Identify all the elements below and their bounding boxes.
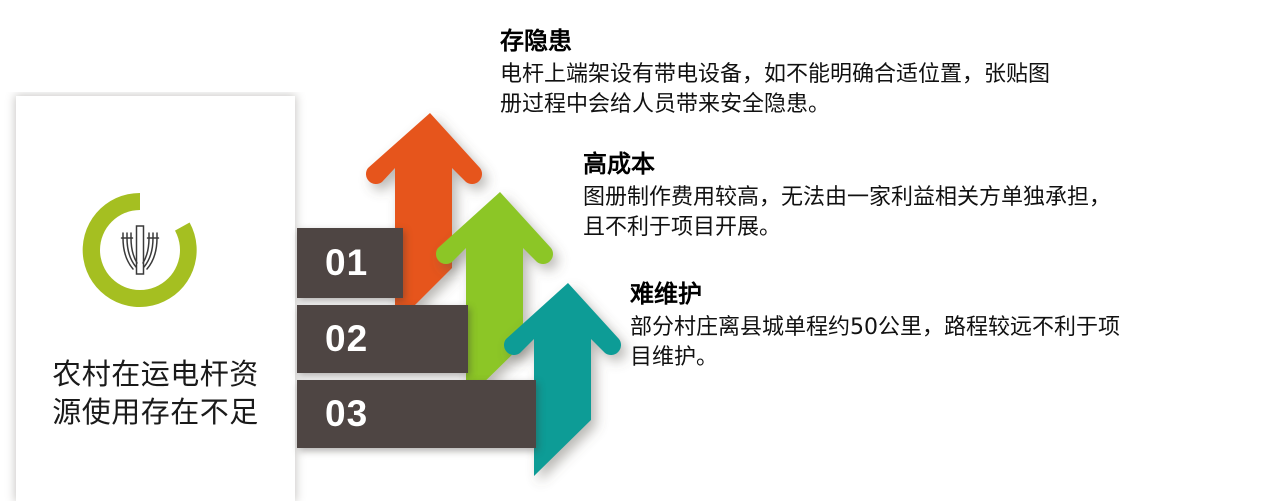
step-bar-03[interactable]: 03 (297, 380, 536, 448)
step-body-01: 电杆上端架设有带电设备，如不能明确合适位置，张贴图册过程中会给人员带来安全隐患。 (500, 60, 1150, 121)
caption-line-1: 农村在运电杆资 (16, 356, 295, 394)
step-bar-02[interactable]: 02 (297, 305, 468, 373)
step-body-03-line-1: 部分村庄离县城单程约50公里，路程较远不利于项 (630, 315, 1120, 340)
step-body-02: 图册制作费用较高，无法由一家利益相关方单独承担，且不利于项目开展。 (583, 183, 1243, 244)
infographic-canvas: 农村在运电杆资 源使用存在不足 01 02 03 存隐患 电杆上端架设有带电设备… (0, 0, 1269, 501)
step-number-01: 01 (325, 244, 368, 281)
step-body-01-line-2: 册过程中会给人员带来安全隐患。 (500, 92, 830, 117)
step-text-block-03: 难维护 部分村庄离县城单程约50公里，路程较远不利于项目维护。 (630, 280, 1269, 374)
step-number-03: 03 (325, 395, 368, 432)
step-body-03: 部分村庄离县城单程约50公里，路程较远不利于项目维护。 (630, 313, 1269, 374)
step-title-01: 存隐患 (500, 27, 1150, 56)
left-card-caption: 农村在运电杆资 源使用存在不足 (16, 356, 295, 431)
step-text-block-02: 高成本 图册制作费用较高，无法由一家利益相关方单独承担，且不利于项目开展。 (583, 150, 1243, 244)
step-body-01-line-1: 电杆上端架设有带电设备，如不能明确合适位置，张贴图 (500, 62, 1050, 87)
step-title-02: 高成本 (583, 150, 1243, 179)
step-title-03: 难维护 (630, 280, 1269, 309)
step-number-02: 02 (325, 320, 368, 357)
caption-line-2: 源使用存在不足 (16, 394, 295, 432)
step-bar-01[interactable]: 01 (297, 228, 403, 298)
donut-chart (66, 176, 214, 324)
step-body-03-line-2: 目维护。 (630, 345, 718, 370)
step-text-block-01: 存隐患 电杆上端架设有带电设备，如不能明确合适位置，张贴图册过程中会给人员带来安… (500, 27, 1150, 121)
step-body-02-line-2: 且不利于项目开展。 (583, 215, 781, 240)
step-body-02-line-1: 图册制作费用较高，无法由一家利益相关方单独承担， (583, 185, 1111, 210)
top-edge-mask (0, 0, 320, 92)
